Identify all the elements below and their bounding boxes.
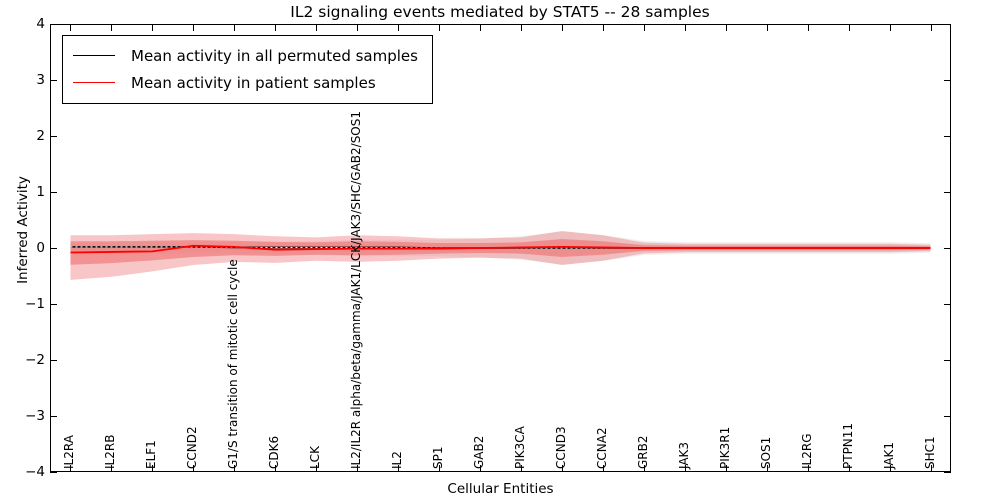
y-tick-mark	[50, 472, 57, 473]
x-tick-label: GAB2	[473, 436, 485, 469]
y-tick-mark-right	[944, 24, 951, 25]
x-tick-mark-top	[275, 24, 276, 31]
x-tick-mark-top	[234, 24, 235, 31]
x-tick-label: CCNA2	[596, 427, 608, 469]
x-tick-mark-top	[603, 24, 604, 31]
x-tick-mark-top	[152, 24, 153, 31]
x-tick-mark-top	[111, 24, 112, 31]
x-tick-mark-top	[644, 24, 645, 31]
x-tick-mark-top	[316, 24, 317, 31]
y-tick-label: 1	[0, 185, 45, 199]
chart-title: IL2 signaling events mediated by STAT5 -…	[0, 2, 1000, 22]
y-tick-label: −1	[0, 297, 45, 311]
y-tick-mark	[50, 24, 57, 25]
x-tick-mark-top	[849, 24, 850, 31]
x-axis-label: Cellular Entities	[50, 481, 951, 497]
x-tick-label: JAK3	[678, 442, 690, 469]
x-tick-label: IL2/IL2R alpha/beta/gamma/JAK1/LCK/JAK3/…	[350, 111, 362, 469]
legend-entry-permuted: Mean activity in all permuted samples	[73, 42, 418, 69]
y-tick-mark-right	[944, 360, 951, 361]
x-tick-mark-top	[931, 24, 932, 31]
y-tick-mark-right	[944, 136, 951, 137]
x-tick-mark-top	[439, 24, 440, 31]
y-tick-mark-right	[944, 192, 951, 193]
y-tick-mark	[50, 416, 57, 417]
x-tick-label: CCND2	[186, 426, 198, 469]
y-tick-mark	[50, 304, 57, 305]
y-tick-mark	[50, 80, 57, 81]
x-tick-label: IL2RB	[104, 435, 116, 469]
x-tick-label: SP1	[432, 447, 444, 470]
x-tick-mark-top	[767, 24, 768, 31]
y-tick-label: −3	[0, 409, 45, 423]
x-tick-mark-top	[521, 24, 522, 31]
x-tick-label: GRB2	[637, 435, 649, 469]
x-tick-mark-top	[685, 24, 686, 31]
y-tick-mark	[50, 360, 57, 361]
x-tick-label: JAK1	[883, 442, 895, 469]
legend-label-permuted: Mean activity in all permuted samples	[131, 47, 418, 65]
x-tick-mark-top	[726, 24, 727, 31]
patient-confidence-band	[70, 231, 930, 280]
y-tick-mark	[50, 248, 57, 249]
x-tick-mark-top	[357, 24, 358, 31]
legend-entry-patient: Mean activity in patient samples	[73, 69, 418, 96]
x-tick-mark-top	[562, 24, 563, 31]
legend-line-swatch-permuted	[73, 55, 115, 56]
legend-label-patient: Mean activity in patient samples	[131, 74, 376, 92]
y-tick-label: −4	[0, 465, 45, 479]
x-tick-mark-top	[890, 24, 891, 31]
y-tick-mark	[50, 136, 57, 137]
x-tick-label: IL2RA	[63, 435, 75, 469]
y-tick-label: 3	[0, 73, 45, 87]
chart-legend: Mean activity in all permuted samples Me…	[62, 35, 433, 104]
x-tick-label: CCND3	[555, 426, 567, 469]
y-tick-label: 2	[0, 129, 45, 143]
x-tick-label: SHC1	[924, 436, 936, 469]
y-tick-mark-right	[944, 472, 951, 473]
x-tick-label: IL2	[391, 451, 403, 469]
x-tick-label: CDK6	[268, 436, 280, 469]
x-tick-mark-top	[70, 24, 71, 31]
y-tick-mark-right	[944, 304, 951, 305]
x-tick-label: LCK	[309, 446, 321, 469]
x-tick-mark-top	[480, 24, 481, 31]
x-tick-label: PTPN11	[842, 423, 854, 469]
x-tick-mark-top	[808, 24, 809, 31]
y-tick-mark-right	[944, 416, 951, 417]
legend-line-swatch-patient	[73, 82, 115, 83]
x-tick-label: G1/S transition of mitotic cell cycle	[227, 259, 239, 469]
x-tick-label: ELF1	[145, 440, 157, 469]
y-tick-mark-right	[944, 80, 951, 81]
y-tick-mark	[50, 192, 57, 193]
x-tick-mark-top	[398, 24, 399, 31]
y-tick-label: −2	[0, 353, 45, 367]
x-tick-label: IL2RG	[801, 434, 813, 470]
y-tick-mark-right	[944, 248, 951, 249]
chart-figure: IL2 signaling events mediated by STAT5 -…	[0, 0, 1000, 500]
x-tick-label: SOS1	[760, 437, 772, 469]
x-tick-label: PIK3CA	[514, 426, 526, 469]
x-tick-label: PIK3R1	[719, 427, 731, 469]
y-tick-label: 0	[0, 241, 45, 255]
x-tick-mark-top	[193, 24, 194, 31]
